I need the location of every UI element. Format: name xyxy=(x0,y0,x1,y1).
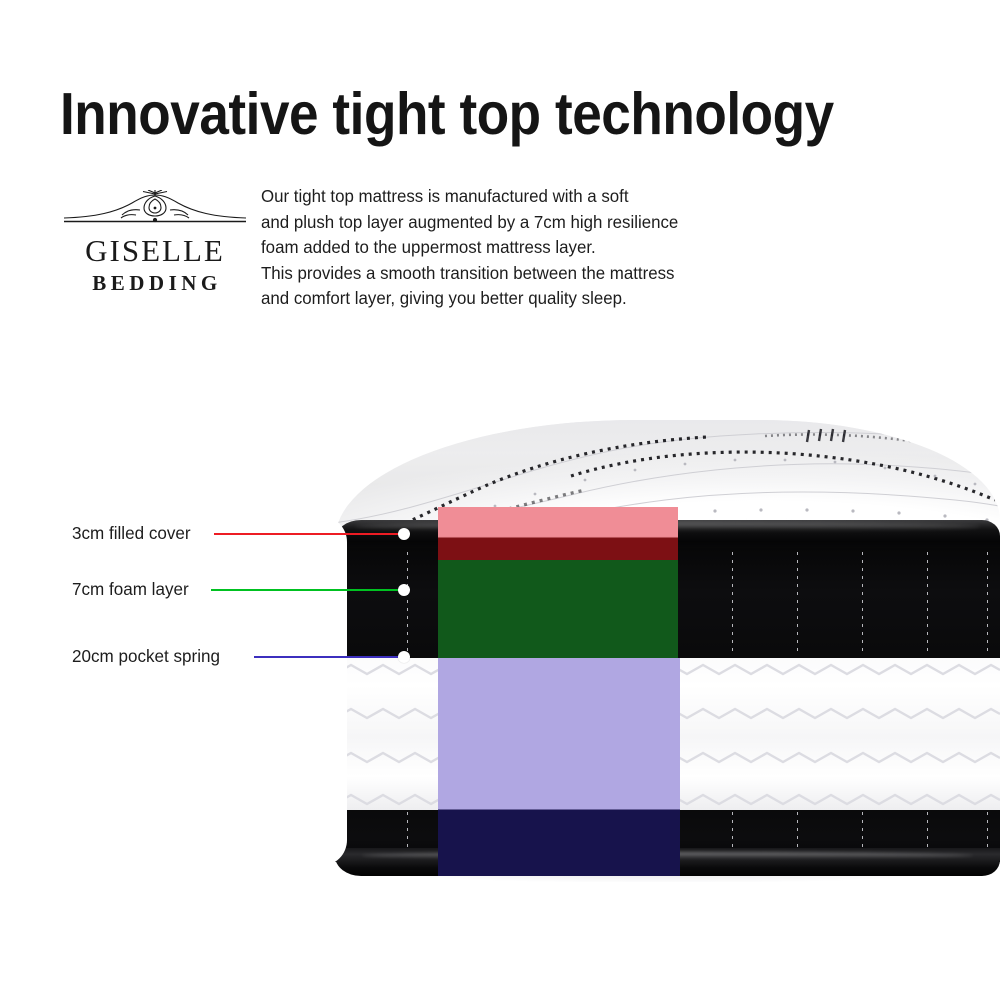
description-line-1: Our tight top mattress is manufactured w… xyxy=(261,184,717,210)
side-stitch-line xyxy=(602,552,603,656)
side-stitch-line xyxy=(927,552,928,656)
mattress-body xyxy=(335,420,1000,876)
mattress-product-image xyxy=(300,400,1000,900)
bottom-edge-piping xyxy=(335,848,1000,876)
side-stitch-line xyxy=(797,552,798,656)
side-stitch-line xyxy=(472,552,473,656)
zigzag-stitch xyxy=(335,706,1000,722)
brand-name: GISELLE xyxy=(62,233,248,269)
side-stitch-line xyxy=(987,552,988,656)
callout-label-filled-cover: 3cm filled cover xyxy=(72,523,191,544)
side-stitch-line xyxy=(732,552,733,656)
callout-line-foam-layer xyxy=(211,589,405,591)
callout-line-pocket-spring xyxy=(254,656,405,658)
zigzag-stitch xyxy=(335,662,1000,678)
leader-line xyxy=(211,589,405,591)
left-edge-mask xyxy=(321,516,347,866)
leader-endpoint-dot xyxy=(398,584,410,596)
bed-headboard-ornament-icon xyxy=(62,190,248,232)
description-paragraph: Our tight top mattress is manufactured w… xyxy=(261,184,717,312)
zigzag-stitch xyxy=(335,750,1000,766)
page-title: Innovative tight top technology xyxy=(60,83,870,145)
leader-endpoint-dot xyxy=(398,528,410,540)
leader-line xyxy=(214,533,405,535)
pocket-spring-band xyxy=(335,658,1000,810)
callout-label-foam-layer: 7cm foam layer xyxy=(72,579,189,600)
description-line-4: This provides a smooth transition betwee… xyxy=(261,261,717,287)
description-line-3: foam added to the uppermost mattress lay… xyxy=(261,235,717,261)
side-stitch-line xyxy=(407,552,408,656)
callout-line-filled-cover xyxy=(214,533,405,535)
brand-logo: GISELLE BEDDING xyxy=(62,190,248,297)
description-line-2: and plush top layer augmented by a 7cm h… xyxy=(261,210,717,236)
zigzag-stitch xyxy=(335,792,1000,808)
side-stitch-line xyxy=(667,552,668,656)
brand-tagline: BEDDING xyxy=(62,269,248,297)
leader-endpoint-dot xyxy=(398,651,410,663)
callout-label-pocket-spring: 20cm pocket spring xyxy=(72,646,220,667)
side-stitch-line xyxy=(537,552,538,656)
side-stitch-line xyxy=(862,552,863,656)
description-line-5: and comfort layer, giving you better qua… xyxy=(261,286,717,312)
leader-line xyxy=(254,656,405,658)
